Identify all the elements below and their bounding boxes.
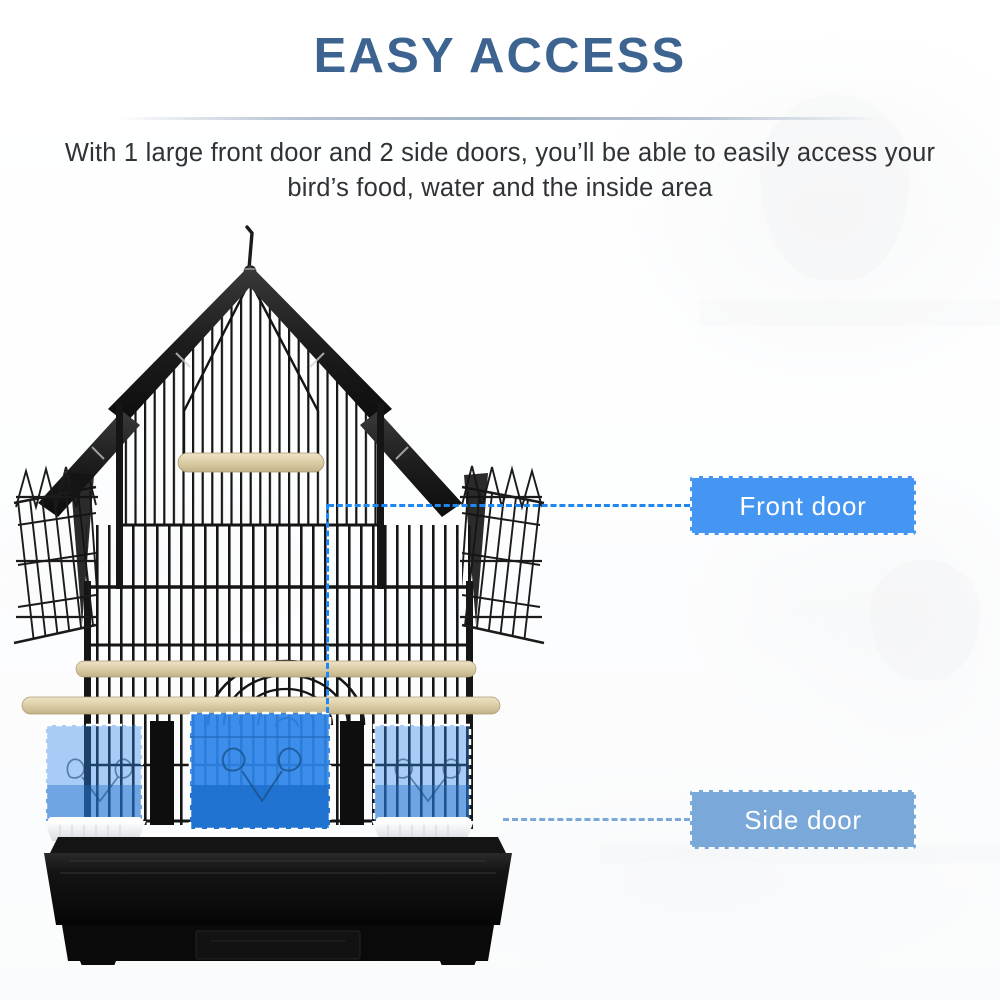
leader-line-side-horizontal — [503, 818, 690, 821]
leader-line-front-horizontal — [328, 504, 690, 507]
infographic-canvas: EASY ACCESS With 1 large front door and … — [0, 0, 1000, 1000]
title-divider — [115, 117, 885, 120]
side-door-highlight-right[interactable] — [374, 725, 470, 821]
callout-side-door[interactable]: Side door — [690, 790, 916, 849]
page-subtitle: With 1 large front door and 2 side doors… — [60, 136, 940, 206]
gable-bars — [118, 269, 382, 525]
bird-cage-illustration — [0, 225, 640, 965]
side-door-highlight-left[interactable] — [46, 725, 142, 821]
canopy-wing-right — [458, 466, 544, 643]
callout-front-door-label: Front door — [740, 493, 867, 519]
leader-line-front-vertical — [326, 504, 329, 713]
cage-base-tray — [44, 837, 512, 965]
callout-front-door[interactable]: Front door — [690, 476, 916, 535]
page-title: EASY ACCESS — [0, 31, 1000, 82]
front-door-highlight[interactable] — [190, 713, 330, 829]
callout-side-door-label: Side door — [744, 807, 862, 833]
